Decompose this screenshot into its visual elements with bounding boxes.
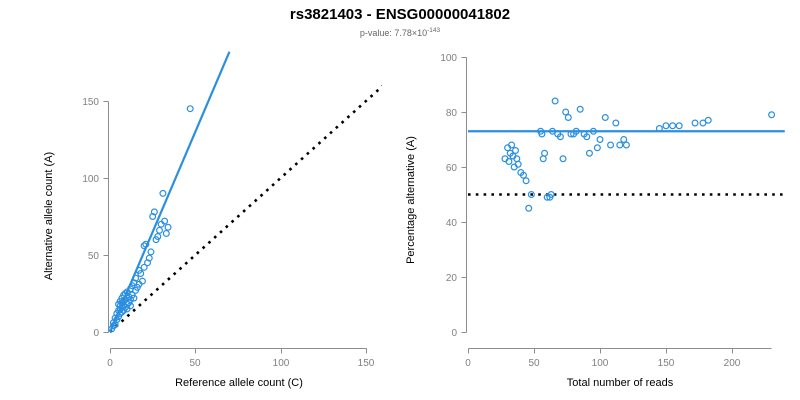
left-chart-x-ticklabel-100: 100: [273, 358, 290, 369]
right-chart-x-ticklabel-0: 0: [465, 358, 471, 369]
right-chart-y-ticklabel-0: 0: [451, 328, 457, 339]
right-chart-y-ticklabel-80: 80: [446, 108, 458, 119]
right-chart-x-axis-title: Total number of reads: [567, 377, 674, 389]
left-chart-y-ticklabel-0: 0: [93, 328, 99, 339]
left-chart-y-axis-title: Alternative allele count (A): [43, 152, 55, 280]
right-chart-y-ticklabel-100: 100: [440, 53, 457, 64]
left-chart-x-axis-title: Reference allele count (C): [175, 377, 303, 389]
right-chart-y-axis-title: Percentage alternative (A): [405, 136, 417, 264]
left-chart-y-ticklabel-50: 50: [88, 251, 100, 262]
right-chart-x-ticklabel-200: 200: [724, 358, 741, 369]
pvalue-text: p-value: 7.78×10: [360, 28, 427, 38]
right-chart-y-ticklabel-20: 20: [446, 273, 458, 284]
figure-background: [0, 0, 800, 400]
left-chart-x-ticklabel-150: 150: [358, 358, 375, 369]
figure-canvas: rs3821403 - ENSG00000041802 p-value: 7.7…: [0, 0, 800, 400]
right-chart-y-ticklabel-40: 40: [446, 218, 458, 229]
right-chart-y-ticklabel-60: 60: [446, 163, 458, 174]
left-chart-x-ticklabel-50: 50: [189, 358, 201, 369]
page-title: rs3821403 - ENSG00000041802: [290, 6, 510, 23]
right-chart-x-ticklabel-100: 100: [592, 358, 609, 369]
left-chart-x-ticklabel-0: 0: [107, 358, 113, 369]
right-chart-x-ticklabel-150: 150: [658, 358, 675, 369]
left-chart-y-ticklabel-150: 150: [82, 97, 99, 108]
right-chart-x-ticklabel-50: 50: [528, 358, 540, 369]
pvalue-exponent: -143: [427, 27, 440, 34]
left-chart-y-ticklabel-100: 100: [82, 174, 99, 185]
